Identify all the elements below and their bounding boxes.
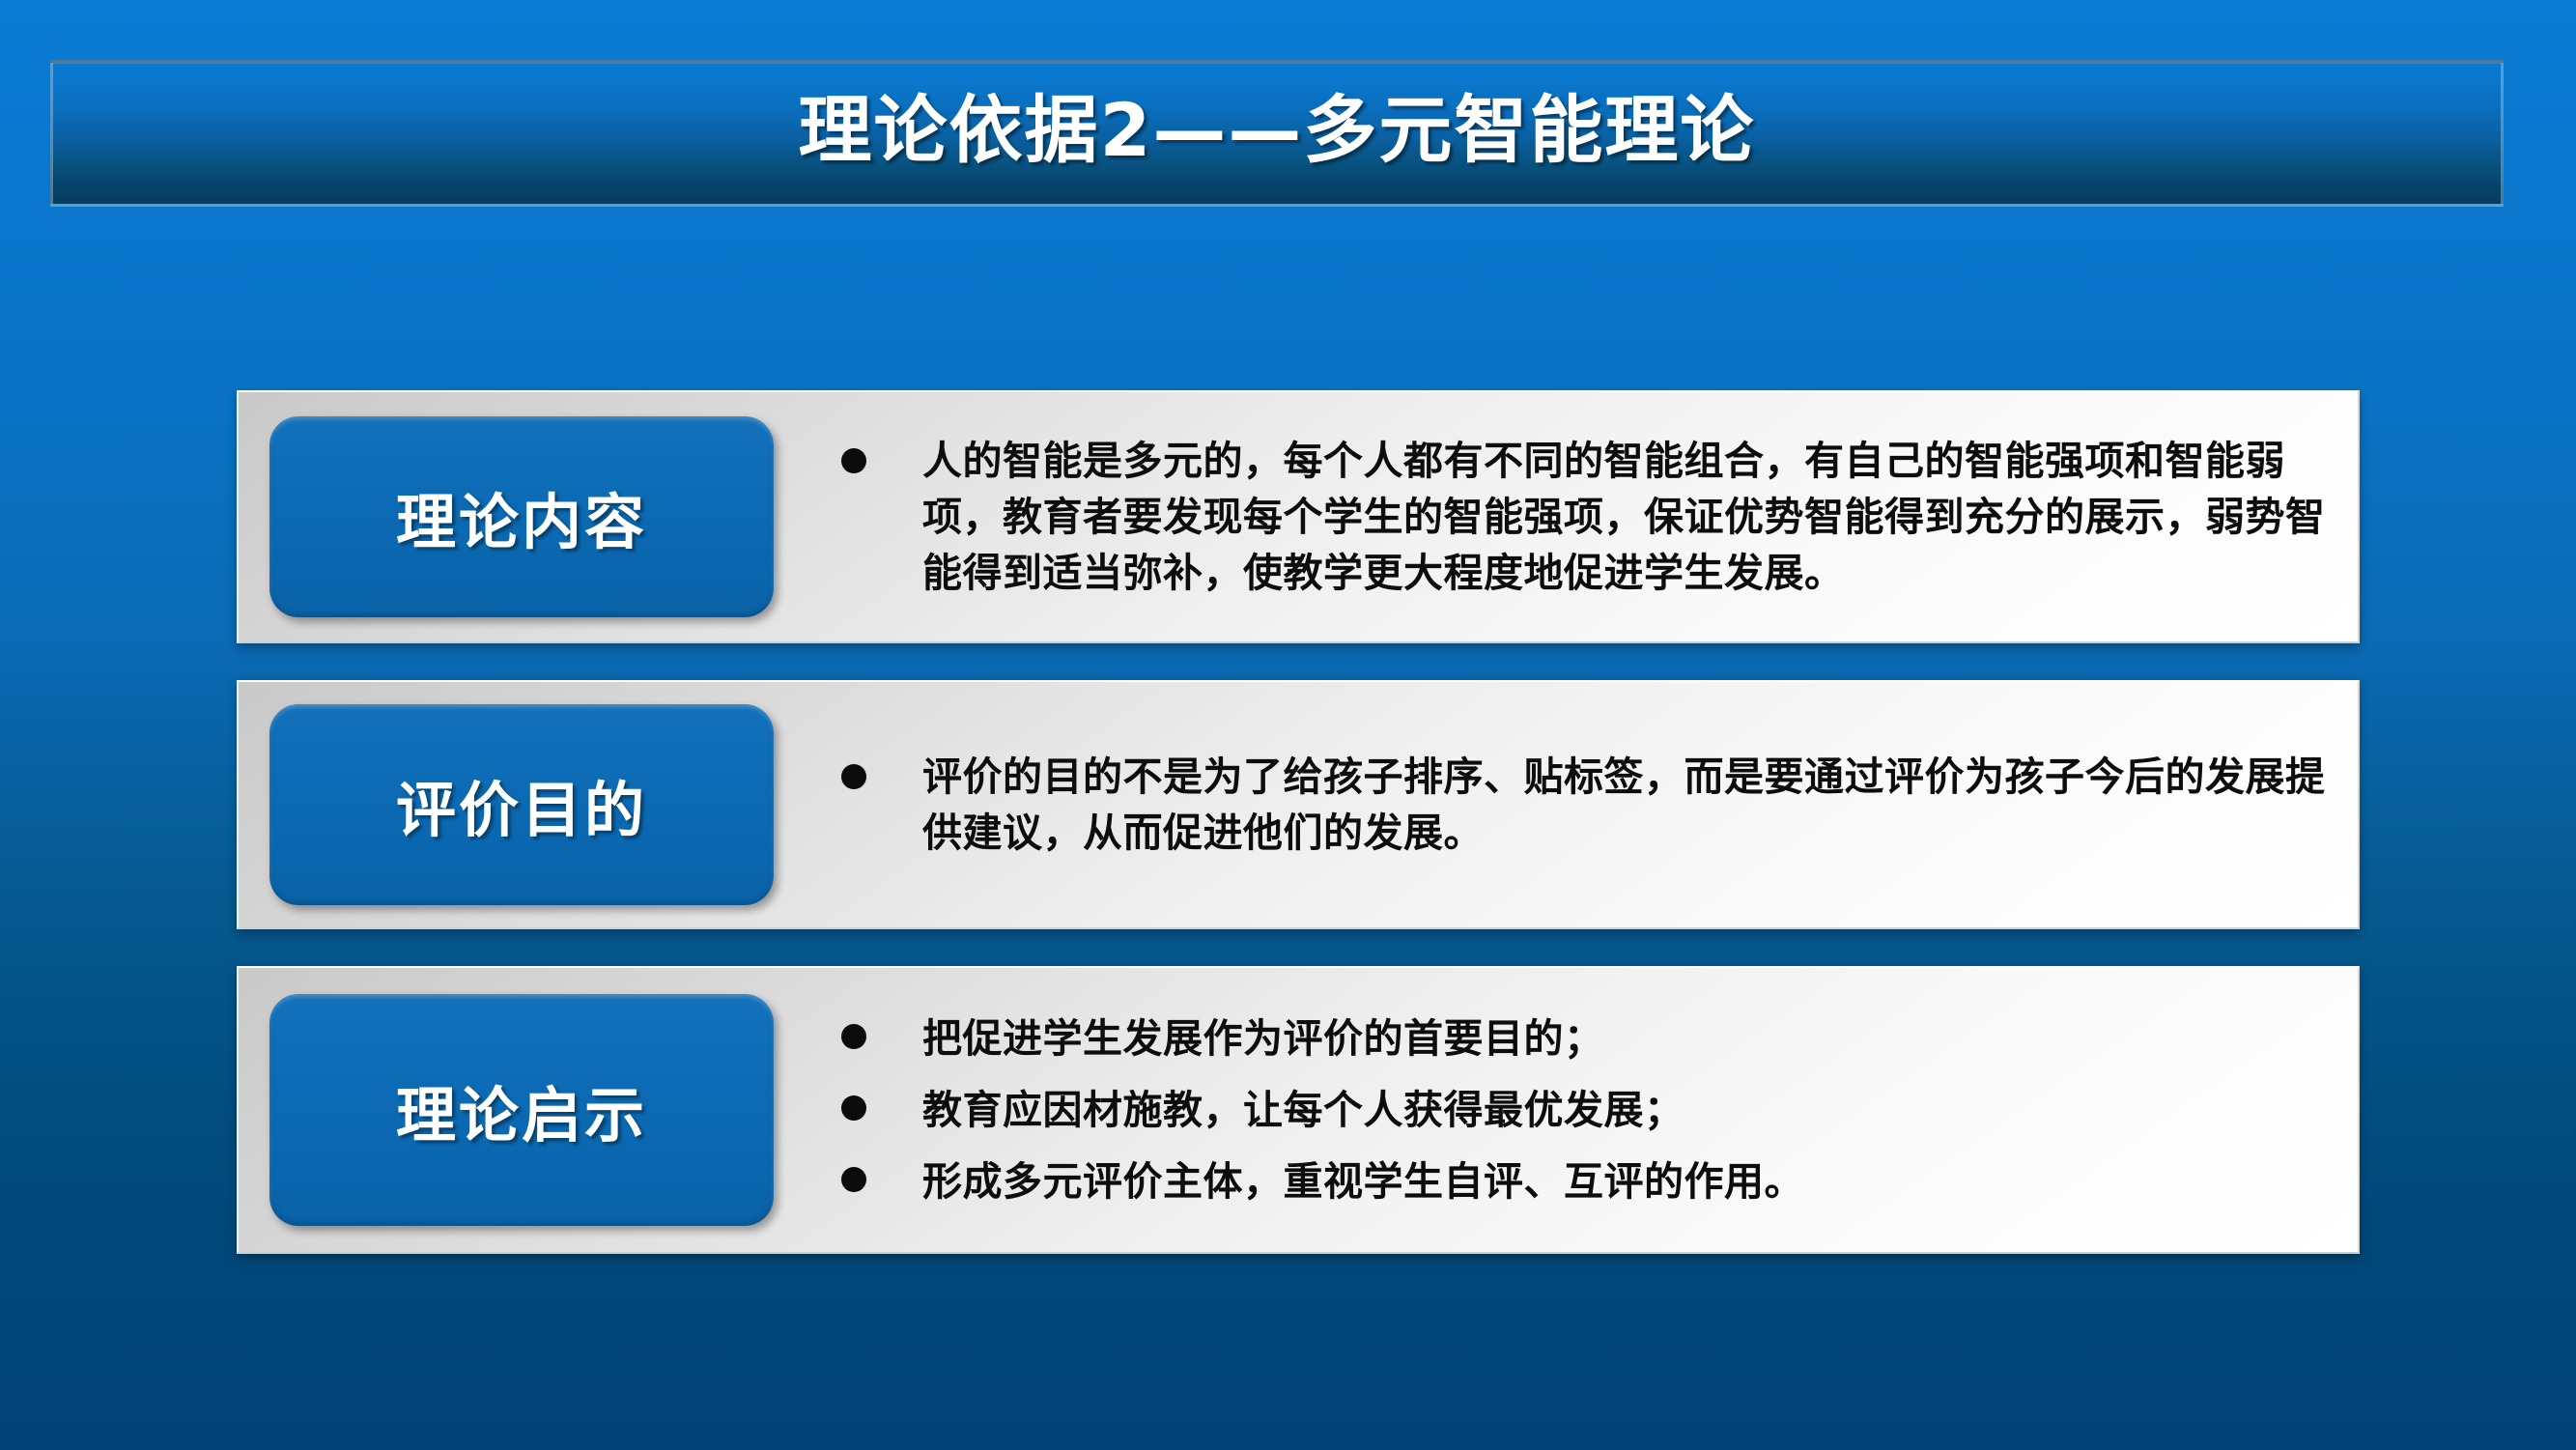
bullet-dot-icon — [841, 764, 866, 789]
list-item: 形成多元评价主体，重视学生自评、互评的作用。 — [841, 1153, 2333, 1209]
list-item: 人的智能是多元的，每个人都有不同的智能组合，有自己的智能强项和智能弱项，教育者要… — [841, 433, 2333, 602]
title-banner: 理论依据2——多元智能理论 — [50, 60, 2504, 207]
row-bullets-evaluation-purpose: 评价的目的不是为了给孩子排序、贴标签，而是要通过评价为孩子今后的发展提供建议，从… — [774, 749, 2358, 861]
bullet-dot-icon — [841, 1024, 866, 1049]
content-row-theory-insight: 理论启示 把促进学生发展作为评价的首要目的； 教育应因材施教，让每个人获得最优发… — [237, 966, 2360, 1254]
row-bullets-theory-insight: 把促进学生发展作为评价的首要目的； 教育应因材施教，让每个人获得最优发展； 形成… — [774, 1010, 2358, 1210]
bullet-dot-icon — [841, 448, 866, 473]
row-badge-theory-insight[interactable]: 理论启示 — [269, 994, 774, 1226]
bullet-text: 形成多元评价主体，重视学生自评、互评的作用。 — [922, 1153, 2333, 1209]
row-bullets-theory-content: 人的智能是多元的，每个人都有不同的智能组合，有自己的智能强项和智能弱项，教育者要… — [774, 433, 2358, 602]
bullet-text: 人的智能是多元的，每个人都有不同的智能组合，有自己的智能强项和智能弱项，教育者要… — [922, 433, 2333, 602]
content-row-theory-content: 理论内容 人的智能是多元的，每个人都有不同的智能组合，有自己的智能强项和智能弱项… — [237, 390, 2360, 643]
list-item: 教育应因材施教，让每个人获得最优发展； — [841, 1082, 2333, 1138]
slide: 理论依据2——多元智能理论 理论内容 人的智能是多元的，每个人都有不同的智能组合… — [0, 0, 2576, 1450]
row-badge-theory-content[interactable]: 理论内容 — [269, 416, 774, 617]
bullet-dot-icon — [841, 1167, 866, 1192]
content-row-evaluation-purpose: 评价目的 评价的目的不是为了给孩子排序、贴标签，而是要通过评价为孩子今后的发展提… — [237, 680, 2360, 929]
content-rows: 理论内容 人的智能是多元的，每个人都有不同的智能组合，有自己的智能强项和智能弱项… — [237, 390, 2360, 1254]
row-badge-evaluation-purpose[interactable]: 评价目的 — [269, 704, 774, 905]
bullet-text: 教育应因材施教，让每个人获得最优发展； — [922, 1082, 2333, 1138]
list-item: 评价的目的不是为了给孩子排序、贴标签，而是要通过评价为孩子今后的发展提供建议，从… — [841, 749, 2333, 861]
bullet-dot-icon — [841, 1095, 866, 1121]
bullet-text: 把促进学生发展作为评价的首要目的； — [922, 1010, 2333, 1066]
bullet-text: 评价的目的不是为了给孩子排序、贴标签，而是要通过评价为孩子今后的发展提供建议，从… — [922, 749, 2333, 861]
list-item: 把促进学生发展作为评价的首要目的； — [841, 1010, 2333, 1066]
page-title: 理论依据2——多元智能理论 — [53, 63, 2501, 204]
